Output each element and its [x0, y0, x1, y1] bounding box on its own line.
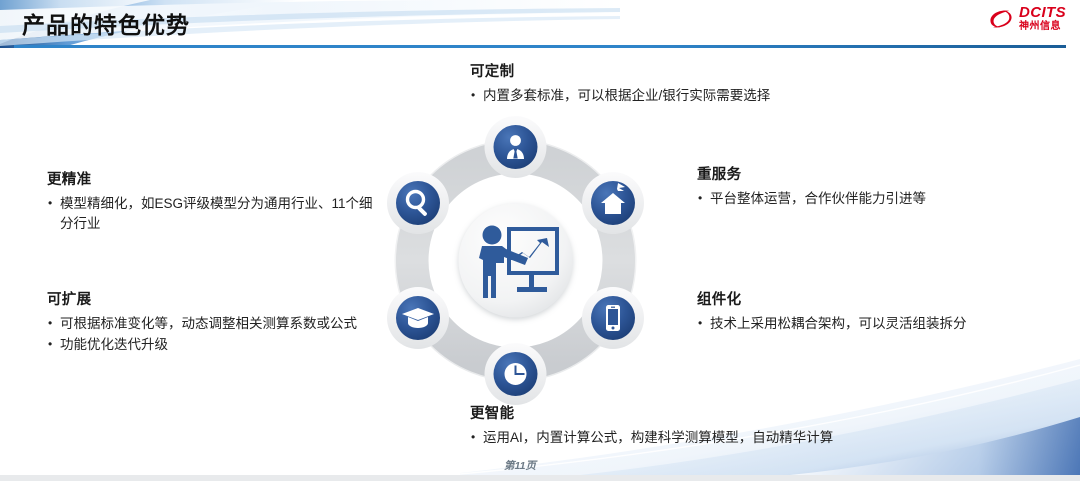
bullet-item: 技术上采用松耦合架构，可以灵活组装拆分 — [697, 314, 1027, 334]
feature-bullets: 运用AI，内置计算公式，构建科学测算模型，自动精华计算 — [470, 428, 920, 448]
page-title: 产品的特色优势 — [22, 6, 190, 40]
hub-node-house[interactable] — [582, 172, 644, 234]
feature-bullets: 模型精细化，如ESG评级模型分为通用行业、11个细分行业 — [47, 194, 377, 235]
feature-bullets: 内置多套标准，可以根据企业/银行实际需要选择 — [470, 86, 890, 106]
feature-block-customizable: 可定制 内置多套标准，可以根据企业/银行实际需要选择 — [470, 60, 890, 107]
hub-node-search[interactable] — [387, 172, 449, 234]
bullet-item: 内置多套标准，可以根据企业/银行实际需要选择 — [470, 86, 890, 106]
feature-block-componentized: 组件化 技术上采用松耦合架构，可以灵活组装拆分 — [697, 288, 1027, 335]
hub-node-clock[interactable] — [485, 343, 547, 405]
feature-block-extensible: 可扩展 可根据标准变化等，动态调整相关测算系数或公式 功能优化迭代升级 — [47, 288, 377, 357]
dcits-swirl-icon — [988, 6, 1014, 32]
bullet-item: 模型精细化，如ESG评级模型分为通用行业、11个细分行业 — [47, 194, 377, 235]
slide-canvas: 产品的特色优势 DCITS 神州信息 — [0, 0, 1080, 481]
clock-icon — [505, 363, 527, 385]
logo-en-text: DCITS — [1019, 5, 1066, 20]
feature-block-intelligent: 更智能 运用AI，内置计算公式，构建科学测算模型，自动精华计算 — [470, 402, 920, 449]
bullet-item: 运用AI，内置计算公式，构建科学测算模型，自动精华计算 — [470, 428, 920, 448]
logo-cn-text: 神州信息 — [1019, 22, 1066, 32]
logo-text-group: DCITS 神州信息 — [1019, 5, 1066, 32]
feature-title: 重服务 — [697, 163, 1027, 184]
feature-block-accurate: 更精准 模型精细化，如ESG评级模型分为通用行业、11个细分行业 — [47, 168, 377, 236]
feature-hub-diagram — [368, 113, 663, 408]
feature-title: 组件化 — [697, 288, 1027, 309]
hub-node-graduation[interactable] — [387, 287, 449, 349]
feature-block-service: 重服务 平台整体运营，合作伙伴能力引进等 — [697, 163, 1027, 210]
hub-node-mobile[interactable] — [582, 287, 644, 349]
slide-header: 产品的特色优势 — [0, 0, 1080, 48]
bullet-item: 平台整体运营，合作伙伴能力引进等 — [697, 189, 1027, 209]
feature-bullets: 技术上采用松耦合架构，可以灵活组装拆分 — [697, 314, 1027, 334]
feature-bullets: 可根据标准变化等，动态调整相关测算系数或公式 功能优化迭代升级 — [47, 314, 377, 356]
hub-node-person[interactable] — [485, 116, 547, 178]
feature-title: 可定制 — [470, 60, 890, 81]
feature-title: 可扩展 — [47, 288, 377, 309]
feature-bullets: 平台整体运营，合作伙伴能力引进等 — [697, 189, 1027, 209]
feature-title: 更精准 — [47, 168, 377, 189]
bottom-strip — [0, 475, 1080, 481]
bullet-item: 可根据标准变化等，动态调整相关测算系数或公式 — [47, 314, 377, 334]
bullet-item: 功能优化迭代升级 — [47, 335, 377, 355]
brand-logo: DCITS 神州信息 — [988, 5, 1066, 32]
mobile-phone-icon — [606, 305, 620, 331]
header-divider — [14, 45, 1066, 48]
page-number: 第11页 — [460, 458, 580, 473]
